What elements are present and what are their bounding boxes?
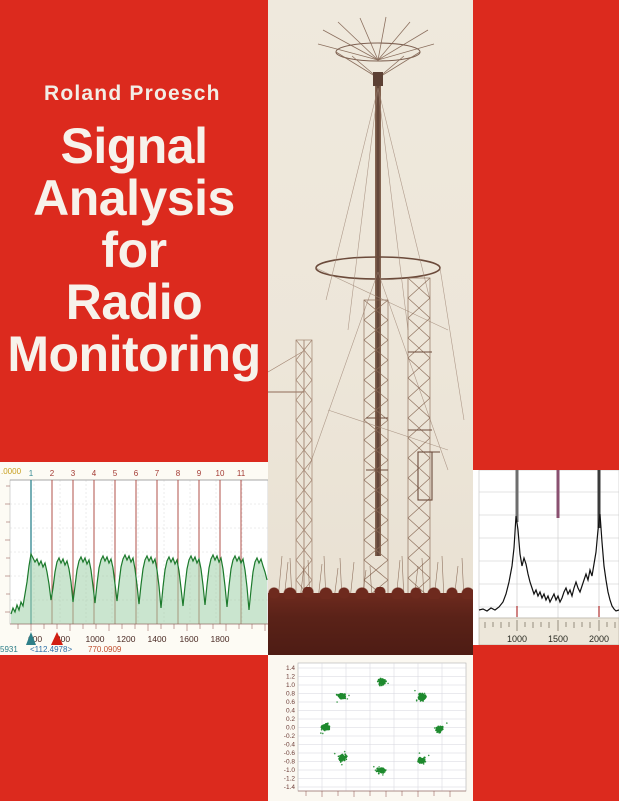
- svg-text:1.0: 1.0: [286, 682, 295, 689]
- two-peak-spectrum-chart[interactable]: 1000 1500 2000: [473, 470, 619, 645]
- status-center: <112.4978>: [30, 645, 72, 654]
- svg-text:6: 6: [134, 469, 139, 478]
- psk8-constellation-chart[interactable]: 1.4 1.2 1.0 0.8 0.6 0.4 0.2 0.0 -0.2 -0.…: [268, 655, 473, 801]
- svg-text:0.6: 0.6: [286, 699, 295, 706]
- svg-text:10: 10: [216, 469, 225, 478]
- hedge-row: [268, 593, 473, 655]
- svg-text:-0.2: -0.2: [284, 733, 296, 740]
- svg-text:1000: 1000: [507, 634, 527, 644]
- svg-text:2000: 2000: [589, 634, 609, 644]
- cursor-bar-center: [557, 470, 560, 518]
- multitone-spectrum-chart[interactable]: 1 2 3 4 5 6 7 8 9 10 11: [0, 462, 268, 655]
- svg-text:8: 8: [176, 469, 181, 478]
- svg-text:1800: 1800: [211, 634, 230, 644]
- svg-text:1: 1: [29, 469, 34, 478]
- svg-text:1.4: 1.4: [286, 665, 295, 672]
- svg-text:0.2: 0.2: [286, 716, 295, 723]
- svg-text:4: 4: [92, 469, 97, 478]
- svg-text:-1.2: -1.2: [284, 776, 296, 783]
- svg-text:11: 11: [237, 469, 246, 478]
- svg-text:1200: 1200: [117, 634, 136, 644]
- svg-text:-1.4: -1.4: [284, 784, 296, 791]
- svg-text:-1.0: -1.0: [284, 767, 296, 774]
- antenna-mast-photograph: [268, 0, 473, 655]
- svg-text:0.0: 0.0: [286, 725, 295, 732]
- svg-text:0.4: 0.4: [286, 708, 295, 715]
- book-cover: Roland Proesch Signal Analysis for Radio…: [0, 0, 619, 801]
- svg-text:-0.4: -0.4: [284, 742, 296, 749]
- svg-text:1400: 1400: [148, 634, 167, 644]
- multitone-spectrum-panel[interactable]: 1 2 3 4 5 6 7 8 9 10 11: [0, 462, 268, 655]
- svg-text:2: 2: [50, 469, 55, 478]
- title-line-2: Analysis: [0, 172, 268, 224]
- svg-text:.0000: .0000: [1, 467, 22, 476]
- status-right: 770.0909: [88, 645, 122, 654]
- title-line-5: Monitoring: [0, 328, 268, 380]
- svg-text:3: 3: [71, 469, 76, 478]
- svg-text:9: 9: [197, 469, 202, 478]
- svg-text:1600: 1600: [180, 634, 199, 644]
- svg-text:0.8: 0.8: [286, 691, 295, 698]
- svg-text:1000: 1000: [86, 634, 105, 644]
- svg-text:-0.8: -0.8: [284, 759, 296, 766]
- svg-text:7: 7: [155, 469, 160, 478]
- author-name: Roland Proesch: [44, 82, 221, 106]
- cursor-bar-left: [516, 470, 519, 522]
- svg-text:5: 5: [113, 469, 118, 478]
- svg-text:1.2: 1.2: [286, 674, 295, 681]
- title-line-1: Signal: [0, 120, 268, 172]
- svg-text:-0.6: -0.6: [284, 750, 296, 757]
- two-peak-spectrum-panel[interactable]: 1000 1500 2000: [473, 470, 619, 645]
- book-title: Signal Analysis for Radio Monitoring: [0, 120, 268, 380]
- status-left: 5931: [0, 645, 18, 654]
- title-line-3: for: [0, 224, 268, 276]
- title-line-4: Radio: [0, 276, 268, 328]
- svg-text:1500: 1500: [548, 634, 568, 644]
- psk8-constellation-panel[interactable]: 1.4 1.2 1.0 0.8 0.6 0.4 0.2 0.0 -0.2 -0.…: [268, 655, 473, 801]
